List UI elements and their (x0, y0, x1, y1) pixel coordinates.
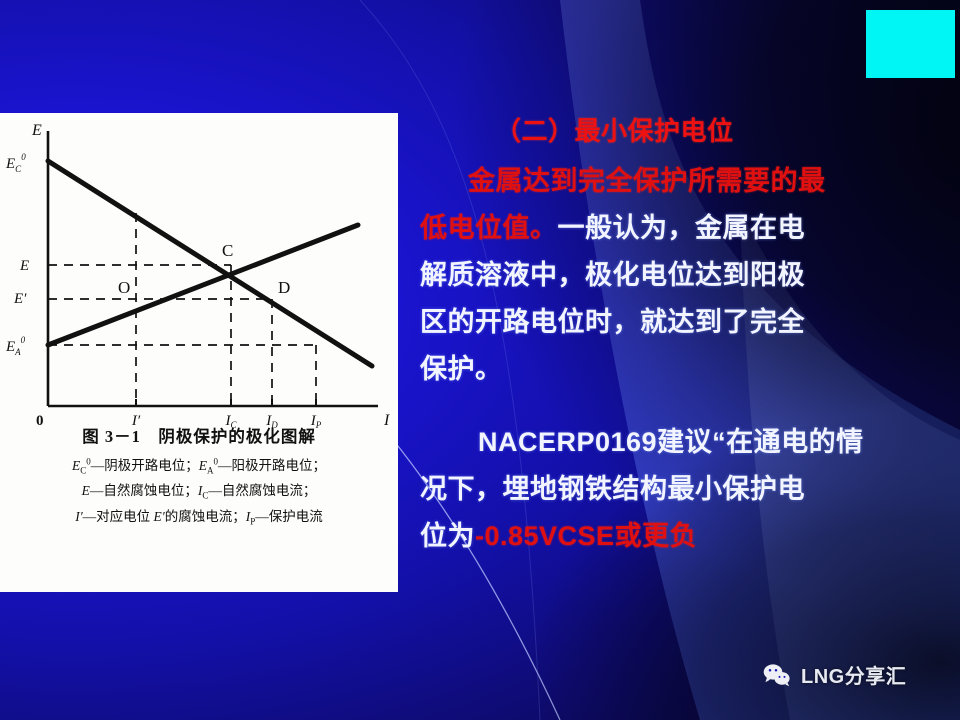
point-label-D: D (278, 278, 290, 297)
body-line-2-white: 一般认为，金属在电 (558, 213, 806, 243)
section-heading: （二）最小保护电位 (495, 118, 930, 144)
body-line-2-red: 低电位值。 (420, 213, 558, 243)
body-line-3: 解质溶液中，极化电位达到阳极 (420, 262, 930, 289)
body-line-6-text: NACERP0169建议“在通电的情 (478, 427, 864, 457)
body-line-5: 保护。 (420, 356, 930, 383)
slide-canvas: E I 0 EC0 E E′ EA0 I′ IC ID IP (0, 0, 960, 720)
watermark: LNG分享汇 (762, 660, 906, 689)
polarization-diagram: E I 0 EC0 E E′ EA0 I′ IC ID IP (0, 113, 398, 431)
y-tick-EA0: EA0 (5, 335, 26, 357)
body-line-1: 金属达到完全保护所需要的最 (420, 168, 930, 195)
body-line-7: 况下，埋地钢铁结构最小保护电 (420, 476, 930, 503)
figure-caption-line-2: E—自然腐蚀电位；IC—自然腐蚀电流； (0, 479, 398, 504)
wechat-icon (762, 663, 792, 687)
cathodic-polarization-curve (48, 161, 372, 366)
body-line-4: 区的开路电位时，就达到了完全 (420, 309, 930, 336)
y-axis-label: E (31, 122, 42, 139)
paragraph-spacer (420, 403, 930, 429)
y-tick-Eprime: E′ (13, 291, 27, 307)
y-tick-E: E (19, 258, 29, 274)
body-line-5-text: 保护。 (420, 354, 503, 384)
body-line-6: NACERP0169建议“在通电的情 (420, 429, 930, 456)
body-line-4-text: 区的开路电位时，就达到了完全 (420, 307, 805, 337)
watermark-label: LNG分享汇 (801, 660, 906, 689)
figure-caption: 图 3－1 阴极保护的极化图解 EC0—阴极开路电位；EA0—阳极开路电位； E… (0, 423, 398, 530)
body-line-7-text: 况下，埋地钢铁结构最小保护电 (420, 474, 805, 504)
figure-panel: E I 0 EC0 E E′ EA0 I′ IC ID IP (0, 113, 398, 592)
body-line-3-text: 解质溶液中，极化电位达到阳极 (420, 260, 805, 290)
figure-caption-line-1: EC0—阴极开路电位；EA0—阳极开路电位； (0, 454, 398, 479)
body-line-8-red: -0.85VCSE或更负 (475, 521, 697, 551)
y-tick-EC0: EC0 (5, 152, 26, 174)
figure-caption-line-3: I′—对应电位 E′的腐蚀电流；IP—保护电流 (0, 505, 398, 530)
body-line-8: 位为-0.85VCSE或更负 (420, 523, 930, 550)
point-label-C: C (222, 241, 233, 260)
body-line-2: 低电位值。一般认为，金属在电 (420, 215, 930, 242)
slide-text-column: （二）最小保护电位 金属达到完全保护所需要的最 低电位值。一般认为，金属在电 解… (420, 118, 930, 570)
figure-caption-title: 图 3－1 阴极保护的极化图解 (0, 423, 398, 447)
body-line-1-text: 金属达到完全保护所需要的最 (468, 166, 826, 196)
body-line-8-white: 位为 (420, 521, 475, 551)
cyan-placeholder-box (866, 10, 955, 78)
point-label-O: O (118, 278, 130, 297)
